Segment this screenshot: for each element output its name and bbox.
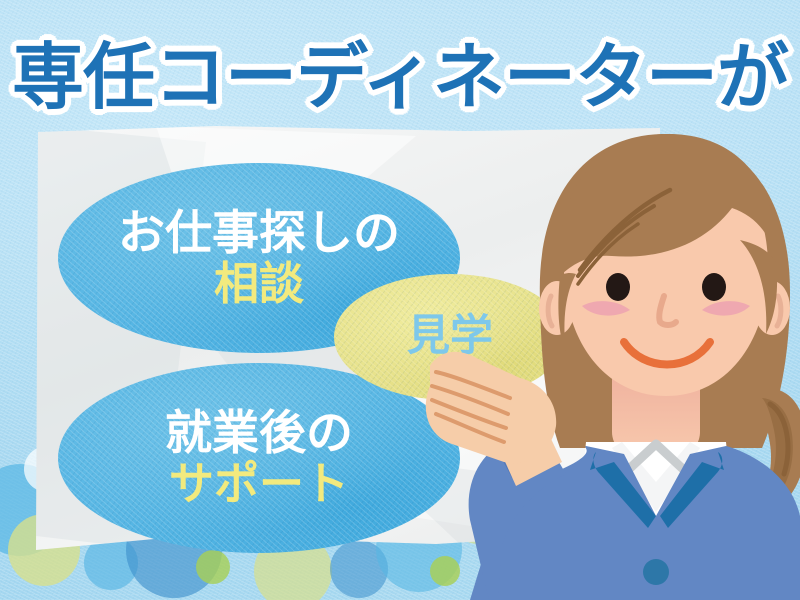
page-title: 専任コーディネーターが — [0, 18, 800, 123]
bubble-consult-line-2: 相談 — [214, 261, 304, 307]
bubble-tour[interactable]: 見学 — [334, 274, 566, 400]
bubble-tour-line-1: 見学 — [407, 315, 493, 359]
decor-bubble — [486, 536, 558, 600]
bubble-support-line-2: サポート — [169, 461, 349, 507]
bubble-support-line-1: 就業後の — [165, 409, 353, 457]
bubble-consult-line-1: お仕事探しの — [118, 209, 400, 257]
decor-bubble — [196, 550, 230, 584]
poster-canvas: お仕事探しの 相談 就業後の サポート 見学 — [0, 0, 800, 600]
decor-bubble — [430, 556, 460, 586]
